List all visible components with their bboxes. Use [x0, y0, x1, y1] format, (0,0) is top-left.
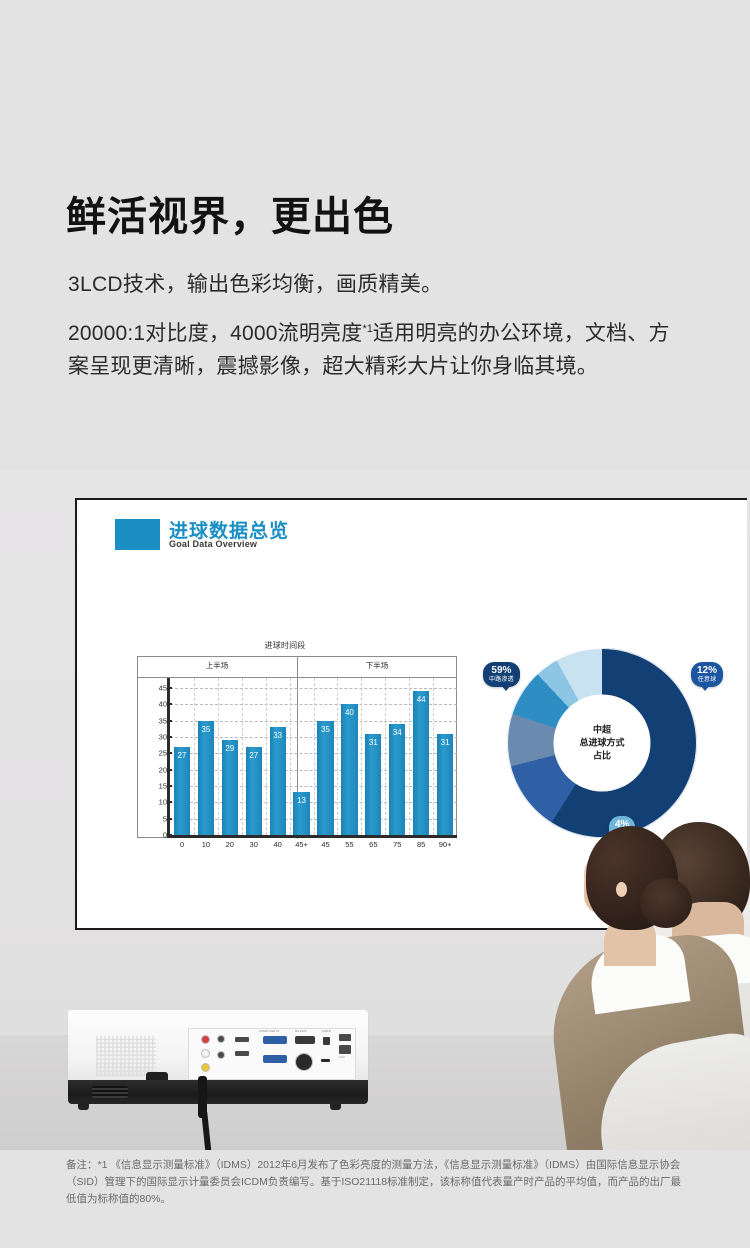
bar-chart-vertical-gridline — [218, 678, 219, 835]
bar-chart-bar-value: 33 — [270, 731, 286, 740]
feature-line-2: 20000:1对比度，4000流明亮度*1适用明亮的办公环境，文档、方案呈现更清… — [68, 318, 690, 383]
port-rs-232c — [295, 1036, 315, 1044]
bar-chart-plot: 051015202530354045 273529273313354031344… — [137, 678, 457, 838]
bar-chart-bar: 29 — [222, 740, 238, 835]
projector-speaker-grille — [96, 1036, 156, 1076]
projector-exhaust-vent — [92, 1086, 128, 1098]
bar-chart-bar: 35 — [317, 721, 333, 835]
bar-chart-bar: 40 — [341, 704, 357, 835]
bar-chart-bar-cell: 31 — [433, 678, 457, 835]
bar-chart-bar-cell: 33 — [266, 678, 290, 835]
donut-ring: 中超 总进球方式 占比 — [507, 648, 697, 838]
donut-center-line-1: 中超 — [593, 723, 611, 736]
bar-chart-bar-cell: 29 — [218, 678, 242, 835]
bar-chart-vertical-gridline — [194, 678, 195, 835]
bar-chart-vertical-gridline — [337, 678, 338, 835]
bar-chart-bar-value: 35 — [317, 725, 333, 734]
projector-port-panel: COMPUTER IN RS-232C USB-B LAN — [188, 1028, 356, 1080]
page-title: 鲜活视界，更出色 — [66, 194, 394, 240]
bar-chart-bar-value: 44 — [413, 695, 429, 704]
projector-foot-right — [330, 1102, 341, 1110]
donut-center-label: 中超 总进球方式 占比 — [554, 695, 651, 792]
bar-chart-x-axis — [167, 835, 457, 838]
port-audio-out-r — [201, 1035, 210, 1044]
donut-callout-2: 4% 点球 — [609, 816, 635, 841]
bar-chart-bar: 34 — [389, 724, 405, 835]
donut-center-line-3: 占比 — [593, 750, 611, 763]
bar-chart-bar: 31 — [437, 734, 453, 835]
port-usb-a — [339, 1034, 351, 1041]
donut-callout-0-name: 中路渗透 — [489, 677, 514, 684]
bar-chart-vertical-gridline — [266, 678, 267, 835]
bar-chart-x-label: 0 — [170, 840, 194, 849]
bar-chart-title: 进球时间段 — [105, 640, 465, 651]
projector-foot-left — [78, 1102, 89, 1110]
bar-chart-bar: 44 — [413, 691, 429, 835]
donut-center-line-2: 总进球方式 — [579, 736, 624, 749]
port-video-in — [201, 1063, 210, 1072]
bar-chart-bar: 13 — [293, 792, 309, 835]
bar-chart-group-first-half: 上半场 — [137, 660, 297, 671]
bar-chart-bar-cell: 44 — [409, 678, 433, 835]
bar-chart-x-label: 75 — [385, 840, 409, 849]
bar-chart-vertical-gridline — [242, 678, 243, 835]
port-hdmi-1 — [235, 1037, 249, 1042]
bar-chart-x-labels: 01020304045+455565758590+ — [170, 840, 457, 849]
port-monitor-out — [263, 1055, 287, 1063]
donut-callout-1-pct: 12% — [697, 665, 717, 677]
donut-chart: 中超 总进球方式 占比 59% 中路渗透 12% 任意球 4% — [477, 640, 727, 865]
donut-callout-1: 12% 任意球 — [691, 662, 723, 687]
projector-device: COMPUTER IN RS-232C USB-B LAN — [68, 1010, 368, 1115]
bar-chart-group-second-half: 下半场 — [297, 660, 457, 671]
port-label-usb-b: USB-B — [322, 1030, 331, 1033]
bar-chart-bar: 27 — [174, 747, 190, 835]
bar-chart-x-label: 10 — [194, 840, 218, 849]
bar-chart-half-header: 上半场 下半场 — [137, 656, 457, 678]
bar-chart-x-label: 65 — [361, 840, 385, 849]
bar-chart-x-label: 20 — [218, 840, 242, 849]
bar-chart-x-label: 30 — [242, 840, 266, 849]
bar-chart-vertical-gridline — [409, 678, 410, 835]
bar-chart-x-label: 85 — [409, 840, 433, 849]
bar-chart-bar-value: 34 — [389, 728, 405, 737]
port-hdmi-2 — [235, 1051, 249, 1056]
product-page: 鲜活视界，更出色 3LCD技术，输出色彩均衡，画质精美。 20000:1对比度，… — [0, 0, 750, 1248]
bar-chart-bar-cell: 40 — [337, 678, 361, 835]
bar-chart-bar-cell: 34 — [385, 678, 409, 835]
bar-chart-x-label: 40 — [266, 840, 290, 849]
bar-chart-bar-cell: 35 — [314, 678, 338, 835]
bar-chart-bar: 35 — [198, 721, 214, 835]
port-usb-b — [323, 1037, 330, 1045]
port-computer-in — [263, 1036, 287, 1044]
slide-title-en: Goal Data Overview — [169, 539, 257, 549]
bar-chart-bar-value: 27 — [174, 751, 190, 760]
feature-line-2-pre: 20000:1对比度，4000流明亮度 — [68, 322, 362, 345]
bar-chart-bar: 31 — [365, 734, 381, 835]
donut-callout-0: 59% 中路渗透 — [483, 662, 520, 687]
port-audio-l — [201, 1049, 210, 1058]
bar-chart-x-label: 55 — [337, 840, 361, 849]
footnote-marker: *1 — [362, 323, 372, 335]
bar-chart-bar-value: 13 — [293, 796, 309, 805]
port-audio-out-jack — [217, 1035, 225, 1043]
bar-chart-vertical-gridline — [433, 678, 434, 835]
feature-line-1: 3LCD技术，输出色彩均衡，画质精美。 — [68, 268, 442, 298]
bar-chart-x-label: 90+ — [433, 840, 457, 849]
bar-chart-bar-value: 40 — [341, 708, 357, 717]
port-audio-in-jack — [217, 1051, 225, 1059]
bar-chart-bar-value: 31 — [437, 738, 453, 747]
bar-chart-bar-cell: 27 — [170, 678, 194, 835]
bar-chart-bar-value: 27 — [246, 751, 262, 760]
bar-chart-bar-cell: 31 — [361, 678, 385, 835]
bar-chart-x-label: 45 — [314, 840, 338, 849]
bar-chart-bar-value: 29 — [222, 744, 238, 753]
port-security-slot — [321, 1059, 330, 1062]
footnote: 备注：*1 《信息显示测量标准》（IDMS）2012年6月发布了色彩亮度的测量方… — [66, 1157, 690, 1207]
port-label-rs-232c: RS-232C — [295, 1030, 307, 1033]
slide: 进球数据总览 Goal Data Overview 进球时间段 上半场 下半场 — [77, 500, 747, 928]
bar-chart-bar-cell: 35 — [194, 678, 218, 835]
bar-chart-x-label: 45+ — [290, 840, 314, 849]
bar-chart-bar-cell: 13 — [290, 678, 314, 835]
presentation-scene: 进球数据总览 Goal Data Overview 进球时间段 上半场 下半场 — [0, 470, 750, 1150]
bar-chart-vertical-gridline — [314, 678, 315, 835]
bar-chart-vertical-gridline — [385, 678, 386, 835]
donut-callout-1-name: 任意球 — [697, 677, 717, 684]
bar-chart-vertical-gridline — [290, 678, 291, 835]
donut-callout-2-pct: 4% — [615, 819, 629, 831]
bar-chart-bar-value: 31 — [365, 738, 381, 747]
donut-callout-2-name: 点球 — [615, 831, 629, 838]
port-lan — [339, 1045, 351, 1054]
bar-chart-vertical-gridline — [361, 678, 362, 835]
bar-chart: 进球时间段 上半场 下半场 051015202530354045 2735292… — [105, 640, 465, 862]
donut-callout-0-pct: 59% — [489, 665, 514, 677]
bar-chart-bar: 33 — [270, 727, 286, 835]
bar-chart-bar-value: 35 — [198, 725, 214, 734]
bar-chart-bar: 27 — [246, 747, 262, 835]
projection-screen: 进球数据总览 Goal Data Overview 进球时间段 上半场 下半场 — [75, 498, 747, 930]
port-label-computer-in: COMPUTER IN — [259, 1030, 279, 1033]
slide-accent-block — [115, 519, 160, 550]
port-lens-knob — [295, 1053, 313, 1071]
projector-body: COMPUTER IN RS-232C USB-B LAN — [68, 1010, 368, 1082]
port-label-lan: LAN — [339, 1056, 345, 1059]
bar-chart-bar-cell: 27 — [242, 678, 266, 835]
